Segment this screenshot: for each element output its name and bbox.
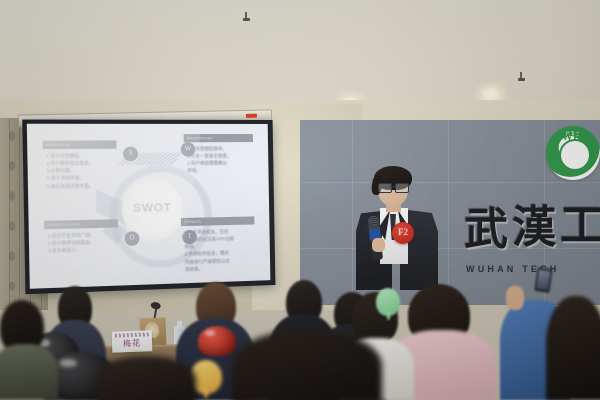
audience-head-foreground xyxy=(546,296,600,400)
status-led-icon xyxy=(246,114,257,118)
emblem-monogram: WIT xyxy=(546,131,600,143)
name-card-text: 梅花 xyxy=(112,337,152,349)
swot-line: 审核。 xyxy=(187,167,250,175)
lecture-hall-photo: SWOT STRENGTHS 1.受众定位精准。 2.用户群体契合度高。 3.价… xyxy=(0,0,600,400)
sprinkler-head-icon xyxy=(243,12,250,22)
screen-glare xyxy=(27,124,206,289)
audience-arm-raised xyxy=(506,286,524,310)
presenter: F2 xyxy=(356,166,438,290)
motorcycle-helmet-red xyxy=(198,326,236,356)
audience-body xyxy=(0,344,58,400)
red-round-badge: F2 xyxy=(392,222,414,244)
sprinkler-head-icon xyxy=(518,72,525,82)
slide-surface: SWOT STRENGTHS 1.受众定位精准。 2.用户群体契合度高。 3.价… xyxy=(27,124,271,289)
wall-sign-hanzi-2: 漢 xyxy=(512,206,556,250)
hand xyxy=(372,238,385,252)
eyeglasses-icon xyxy=(378,183,408,191)
microphone-grille-icon xyxy=(368,216,380,226)
swot-line: 到效果。 xyxy=(185,263,252,272)
university-emblem-logo: 武漢工 WIT xyxy=(546,126,600,180)
phone-screen xyxy=(537,270,550,289)
audience-head-foreground xyxy=(232,330,382,400)
name-card: 梅花 xyxy=(112,330,153,352)
badge-label: F2 xyxy=(392,227,414,237)
green-balloon xyxy=(376,288,400,316)
swot-quadrant-threats: THREATS 1.社交平台较多，已有 较成熟的社交类APP占据 市场。 2.市… xyxy=(181,216,255,274)
emblem-inner-ring xyxy=(559,139,591,171)
projection-screen: SWOT STRENGTHS 1.受众定位精准。 2.用户群体契合度高。 3.价… xyxy=(22,120,275,295)
wall-sign-hanzi-1: 武 xyxy=(464,208,508,252)
audience-head-foreground xyxy=(96,356,196,400)
wall-sign-hanzi-3: 工 xyxy=(560,204,600,248)
